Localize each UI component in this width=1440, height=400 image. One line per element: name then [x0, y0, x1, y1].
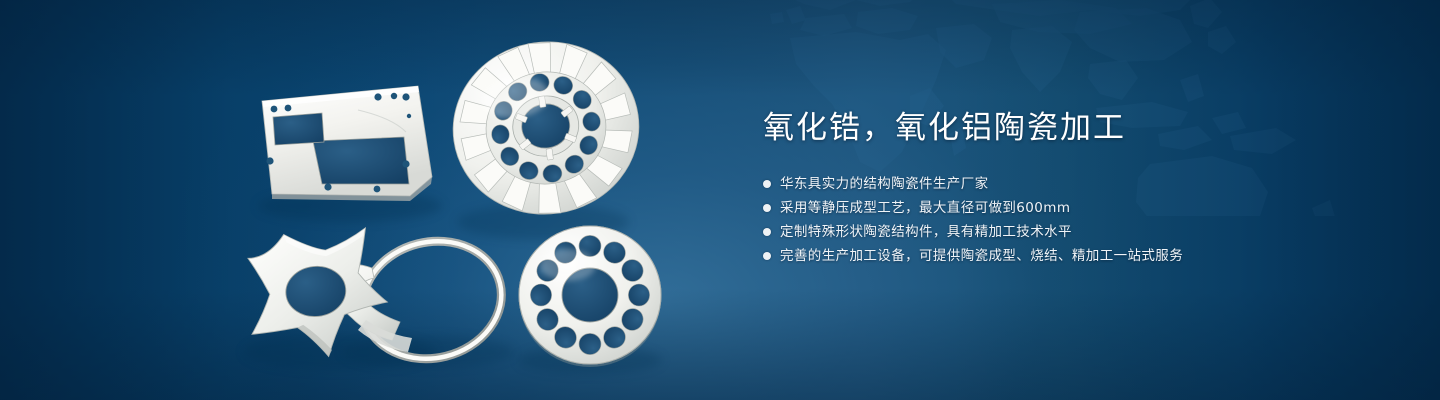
bullet-dot-icon — [763, 204, 771, 212]
ceramic-promo-banner: 氧化锆，氧化铝陶瓷加工 华东具实力的结构陶瓷件生产厂家 采用等静压成型工艺，最大… — [0, 0, 1440, 400]
banner-copy: 氧化锆，氧化铝陶瓷加工 华东具实力的结构陶瓷件生产厂家 采用等静压成型工艺，最大… — [763, 108, 1383, 268]
bullet-dot-icon — [763, 180, 771, 188]
ceramic-vaned-impeller-disc — [442, 30, 650, 226]
list-item-label: 定制特殊形状陶瓷结构件，具有精加工技术水平 — [780, 220, 1072, 244]
list-item-label: 采用等静压成型工艺，最大直径可做到600mm — [780, 196, 1070, 220]
feature-list: 华东具实力的结构陶瓷件生产厂家 采用等静压成型工艺，最大直径可做到600mm 定… — [763, 172, 1383, 268]
list-item-label: 完善的生产加工设备，可提供陶瓷成型、烧结、精加工一站式服务 — [780, 244, 1183, 268]
list-item-label: 华东具实力的结构陶瓷件生产厂家 — [780, 172, 989, 196]
ceramic-products-image — [0, 0, 740, 400]
list-item: 采用等静压成型工艺，最大直径可做到600mm — [763, 196, 1383, 220]
bullet-dot-icon — [763, 228, 771, 236]
page-title: 氧化锆，氧化铝陶瓷加工 — [763, 108, 1383, 148]
bullet-dot-icon — [763, 252, 771, 260]
ceramic-perforated-annular-disc — [519, 226, 661, 367]
ceramic-machined-plate — [262, 86, 432, 201]
list-item: 定制特殊形状陶瓷结构件，具有精加工技术水平 — [763, 220, 1383, 244]
list-item: 完善的生产加工设备，可提供陶瓷成型、烧结、精加工一站式服务 — [763, 244, 1383, 268]
list-item: 华东具实力的结构陶瓷件生产厂家 — [763, 172, 1383, 196]
